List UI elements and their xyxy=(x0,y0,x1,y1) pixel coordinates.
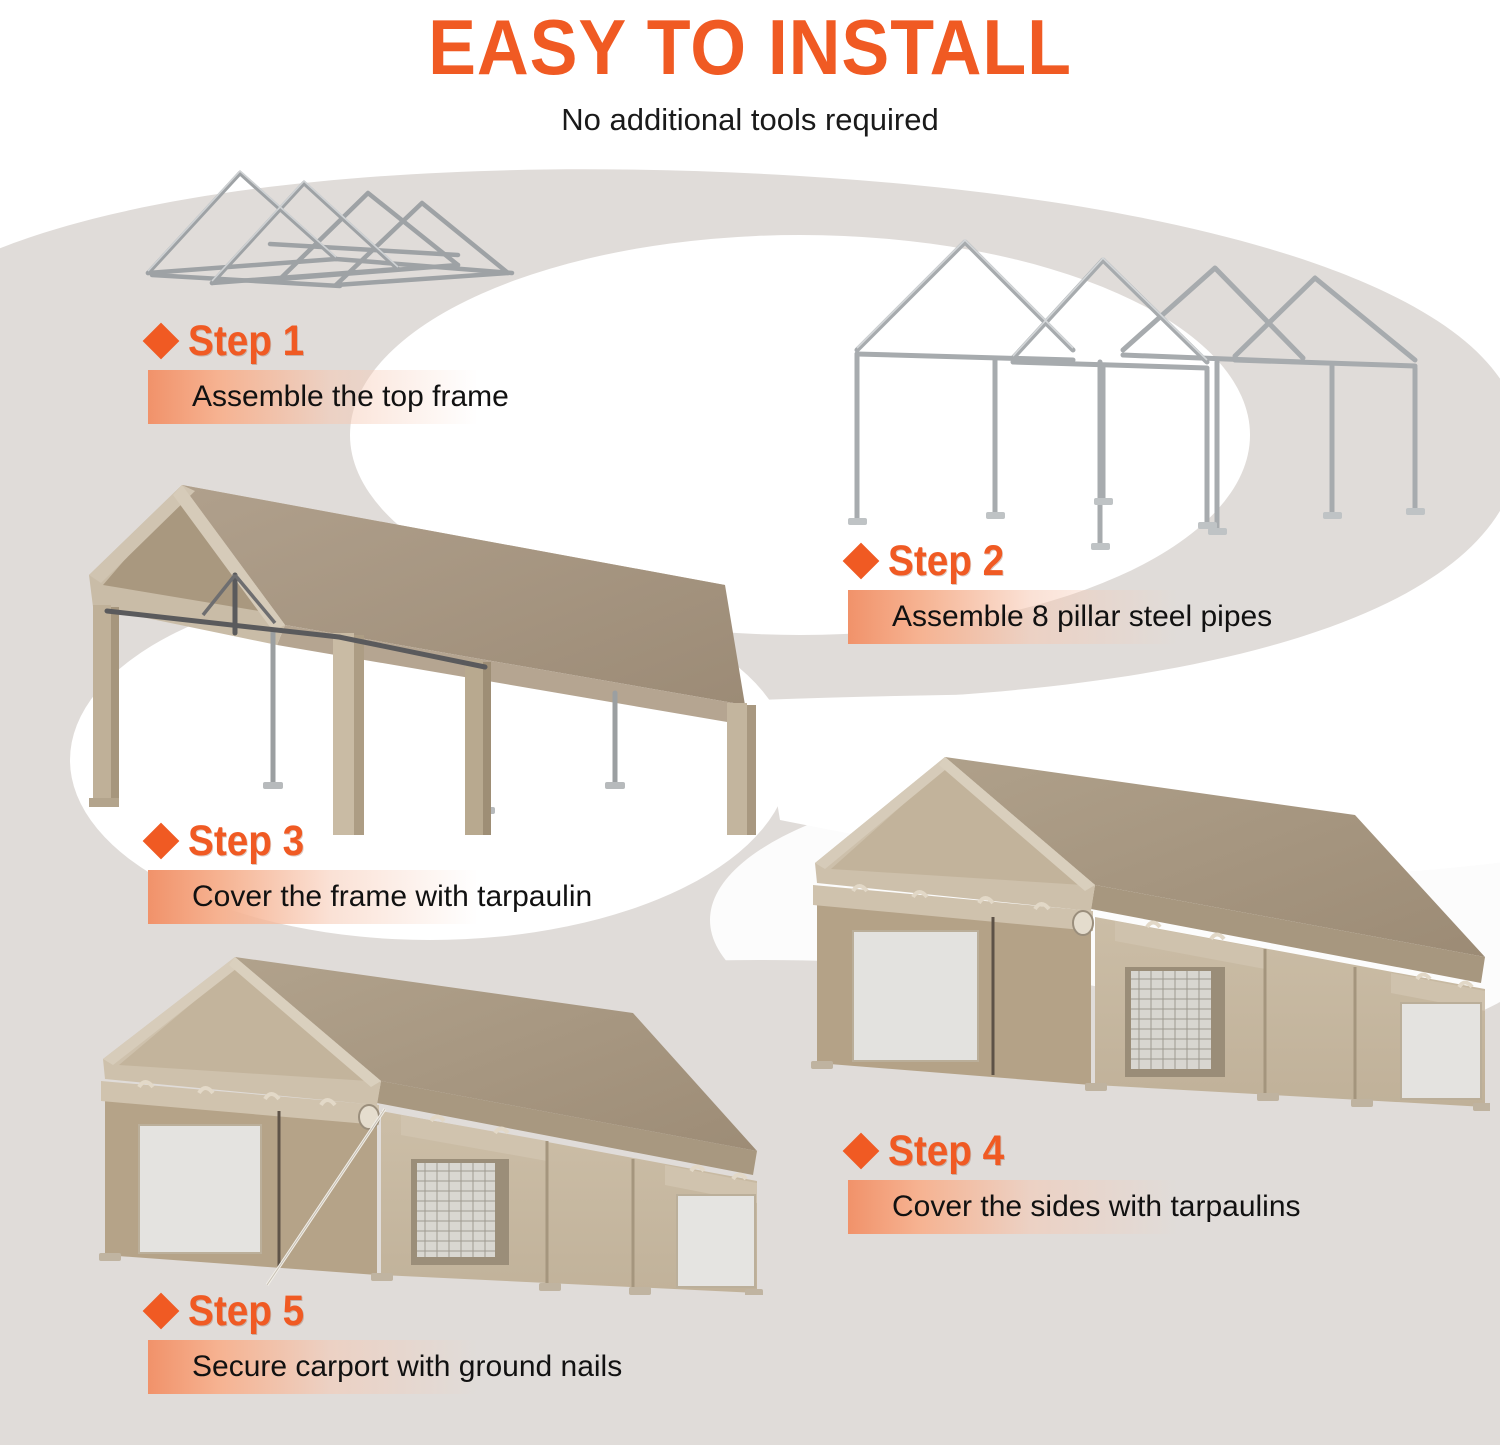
step-2-description: Assemble 8 pillar steel pipes xyxy=(848,600,1272,633)
diamond-icon xyxy=(143,323,180,360)
step-2-number: Step 2 xyxy=(888,537,1004,586)
step-2-description-wrap: Assemble 8 pillar steel pipes xyxy=(848,590,1272,644)
diamond-icon xyxy=(843,1133,880,1170)
step-4-heading: Step 4 xyxy=(848,1128,1301,1174)
step-3-number: Step 3 xyxy=(188,817,304,866)
illustration-carport-roof-covered xyxy=(85,455,795,835)
page-title: EASY TO INSTALL xyxy=(60,0,1440,86)
step-4-block: Step 4 Cover the sides with tarpaulins xyxy=(848,1128,1301,1234)
step-5-block: Step 5 Secure carport with ground nails xyxy=(148,1288,622,1394)
header: EASY TO INSTALL No additional tools requ… xyxy=(0,0,1500,138)
illustration-carport-anchored-with-guy-line xyxy=(85,945,765,1295)
illustration-carport-with-side-panels xyxy=(795,745,1490,1115)
step-3-heading: Step 3 xyxy=(148,818,592,864)
step-3-block: Step 3 Cover the frame with tarpaulin xyxy=(148,818,592,924)
step-1-heading: Step 1 xyxy=(148,318,509,364)
step-1-number: Step 1 xyxy=(188,317,304,366)
step-5-description: Secure carport with ground nails xyxy=(148,1350,622,1383)
step-2-block: Step 2 Assemble 8 pillar steel pipes xyxy=(848,538,1272,644)
step-3-description: Cover the frame with tarpaulin xyxy=(148,880,592,913)
step-2-heading: Step 2 xyxy=(848,538,1272,584)
page-subtitle: No additional tools required xyxy=(0,102,1500,138)
illustration-frame-with-legs xyxy=(835,230,1465,550)
step-4-number: Step 4 xyxy=(888,1127,1004,1176)
step-4-description-wrap: Cover the sides with tarpaulins xyxy=(848,1180,1301,1234)
step-1-description: Assemble the top frame xyxy=(148,380,509,413)
step-1-block: Step 1 Assemble the top frame xyxy=(148,318,509,424)
diamond-icon xyxy=(143,823,180,860)
step-5-description-wrap: Secure carport with ground nails xyxy=(148,1340,622,1394)
illustration-roof-truss-frames xyxy=(140,155,660,300)
diamond-icon xyxy=(843,543,880,580)
step-3-description-wrap: Cover the frame with tarpaulin xyxy=(148,870,592,924)
step-4-description: Cover the sides with tarpaulins xyxy=(848,1190,1301,1223)
step-5-number: Step 5 xyxy=(188,1287,304,1336)
step-1-description-wrap: Assemble the top frame xyxy=(148,370,509,424)
step-5-heading: Step 5 xyxy=(148,1288,622,1334)
diamond-icon xyxy=(143,1293,180,1330)
